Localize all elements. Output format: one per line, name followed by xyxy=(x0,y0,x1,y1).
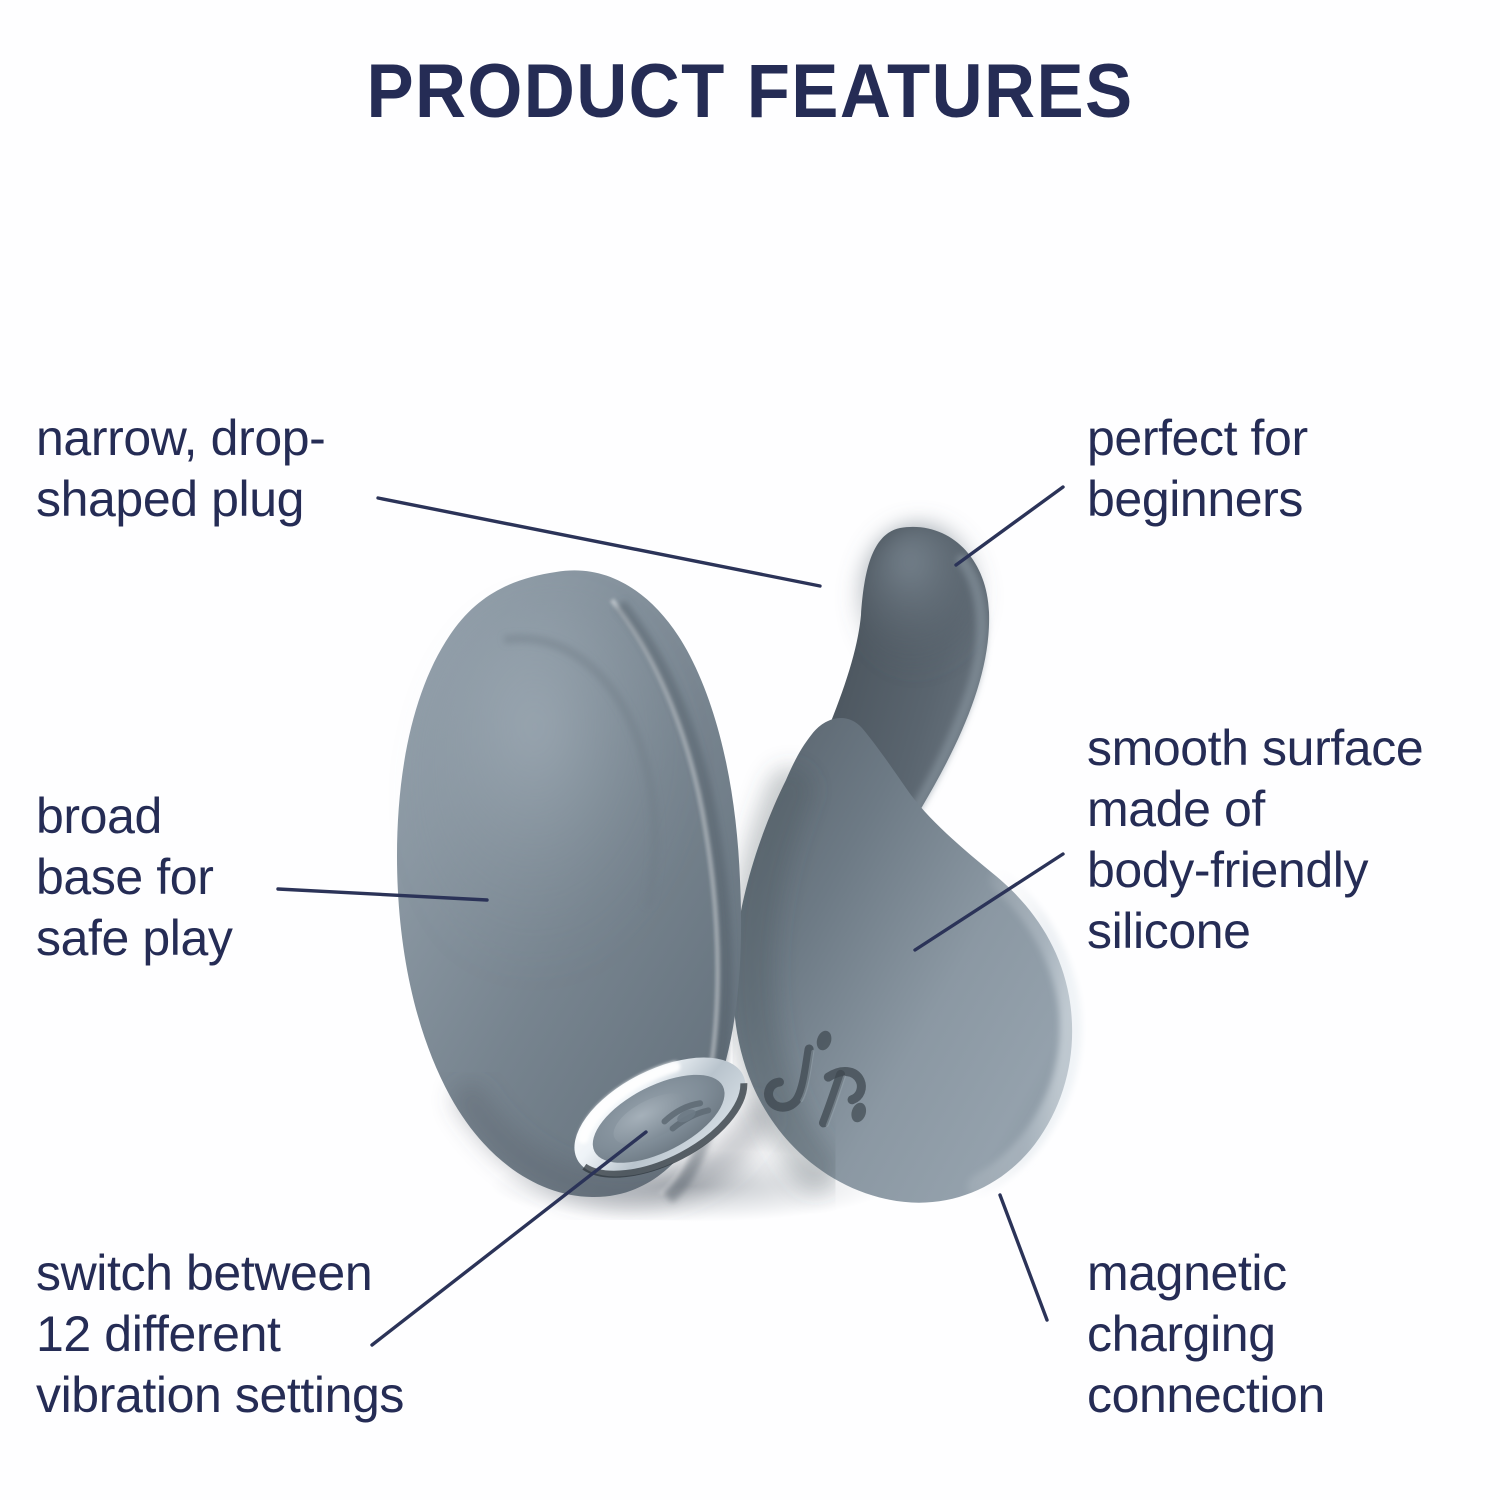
product-seam-shadow xyxy=(620,604,726,1198)
power-button-ring xyxy=(556,1033,764,1201)
product-plug-arm xyxy=(785,527,989,934)
product-base-underside-shadow xyxy=(470,1100,756,1192)
power-button-rim-shadow xyxy=(583,1083,760,1197)
product-plug-rim-light xyxy=(914,560,982,812)
power-button-recess xyxy=(580,1057,738,1181)
product-base-crease xyxy=(504,639,655,906)
leader-line-silicone xyxy=(915,854,1063,950)
product-features-infographic: PRODUCT FEATURES xyxy=(0,0,1500,1500)
callout-smooth-body-friendly-silicone: smooth surface made of body-friendly sil… xyxy=(1087,718,1423,962)
product-broad-base xyxy=(397,570,741,1197)
leader-lines xyxy=(278,487,1063,1345)
callout-broad-base-for-safe-play: broad base for safe play xyxy=(36,786,233,969)
callout-switch-between-12-vibration-settings: switch between 12 different vibration se… xyxy=(36,1243,404,1426)
product-plug-tip-highlight xyxy=(858,524,982,676)
leader-line-base xyxy=(278,889,487,900)
leader-line-switch xyxy=(372,1132,646,1345)
leader-line-plug xyxy=(378,498,820,586)
power-button-icon-dot xyxy=(675,1107,697,1125)
leader-line-beginners xyxy=(956,487,1063,565)
product-seam-line xyxy=(612,600,718,1194)
power-button-icon xyxy=(663,1099,708,1131)
power-button[interactable] xyxy=(556,1033,764,1201)
callout-narrow-drop-shaped-plug: narrow, drop- shaped plug xyxy=(36,408,325,530)
power-button-ring-highlight xyxy=(572,1064,685,1138)
leader-line-magnetic xyxy=(1000,1195,1047,1320)
product-body-edge-light xyxy=(978,880,1071,1186)
page-title: PRODUCT FEATURES xyxy=(53,48,1448,135)
callout-perfect-for-beginners: perfect for beginners xyxy=(1087,408,1308,530)
satisfyer-logo xyxy=(766,1024,876,1129)
callout-magnetic-charging-connection: magnetic charging connection xyxy=(1087,1243,1325,1426)
product-body-inner-shade xyxy=(752,790,816,1168)
product-silhouette xyxy=(397,524,1072,1203)
product-main-body xyxy=(733,718,1072,1203)
power-button-dimple xyxy=(606,1083,698,1155)
product-base-sheen xyxy=(424,608,688,1004)
product-ground-shadow xyxy=(490,1150,890,1222)
